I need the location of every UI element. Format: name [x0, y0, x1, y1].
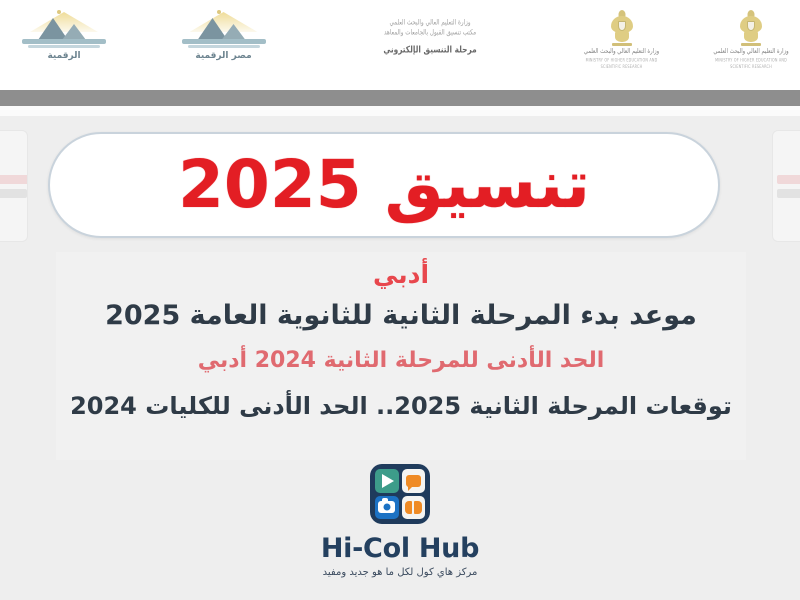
brand-logo[interactable]	[370, 464, 430, 524]
subject-tag: أدبي	[56, 260, 746, 289]
play-button-icon	[382, 474, 394, 488]
article-stage: تنسيق 2025 أدبي موعد بدء المرحلة الثانية…	[0, 116, 800, 600]
article-title-pill: تنسيق 2025	[48, 132, 720, 238]
coordination-office-line-3: مرحلة التنسيق الإلكتروني	[383, 41, 476, 58]
digital-egypt-logo-2: الرقمية	[6, 4, 122, 61]
logo-tile-book	[402, 496, 426, 520]
carousel-next-slide-peek[interactable]	[772, 130, 800, 242]
brand-name: Hi-Col Hub	[321, 533, 479, 564]
logo-tile-camera	[375, 496, 399, 520]
digital-egypt-pyramid-icon	[16, 10, 112, 50]
speech-bubble-icon	[406, 475, 421, 487]
ministry-logo-2-english: MINISTRY OF HIGHER EDUCATION AND SCIENTI…	[579, 57, 665, 71]
digital-egypt-label-2: الرقمية	[47, 51, 80, 61]
headline-1[interactable]: موعد بدء المرحلة الثانية للثانوية العامة…	[56, 300, 746, 331]
logo-tile-play	[375, 469, 399, 493]
digital-egypt-logo-1: مصر الرقمية	[166, 4, 282, 61]
ministry-logo-banner: وزارة التعليم العالي والبحث العلمي MINIS…	[0, 0, 800, 90]
carousel-previous-slide-peek[interactable]	[0, 130, 28, 242]
open-book-icon	[405, 501, 422, 514]
ministry-logo-2-arabic: وزارة التعليم العالي والبحث العلمي	[584, 48, 659, 58]
ministry-logo-1-arabic: وزارة التعليم العالي والبحث العلمي	[713, 48, 788, 58]
headline-2[interactable]: الحد الأدنى للمرحلة الثانية 2024 أدبي	[56, 348, 746, 373]
ministry-logo-1-english: MINISTRY OF HIGHER EDUCATION AND SCIENTI…	[708, 57, 794, 71]
camera-icon	[378, 501, 395, 513]
coordination-office-logo: وزارة التعليم العالي والبحث العلمي مكتب …	[325, 4, 535, 56]
ministry-logo-2: وزارة التعليم العالي والبحث العلمي MINIS…	[579, 4, 665, 70]
site-brand: Hi-Col Hub مركز هاي كول لكل ما هو جديد و…	[0, 464, 800, 578]
article-content-card: أدبي موعد بدء المرحلة الثانية للثانوية ا…	[56, 252, 746, 460]
white-strip	[0, 106, 800, 116]
page-title: تنسيق 2025	[178, 152, 590, 218]
digital-egypt-pyramid-icon	[176, 10, 272, 50]
headline-3[interactable]: توقعات المرحلة الثانية 2025.. الحد الأدن…	[56, 392, 746, 420]
ministry-logo-1: وزارة التعليم العالي والبحث العلمي MINIS…	[708, 4, 794, 70]
brand-tagline: مركز هاي كول لكل ما هو جديد ومفيد	[323, 567, 478, 578]
gray-separator-band	[0, 90, 800, 106]
logo-tile-speech	[402, 469, 426, 493]
coordination-office-line-2: مكتب تنسيق القبول بالجامعات والمعاهد	[384, 27, 476, 40]
digital-egypt-label-1: مصر الرقمية	[195, 51, 251, 61]
egypt-eagle-emblem-icon	[738, 10, 764, 44]
egypt-eagle-emblem-icon	[609, 10, 635, 44]
